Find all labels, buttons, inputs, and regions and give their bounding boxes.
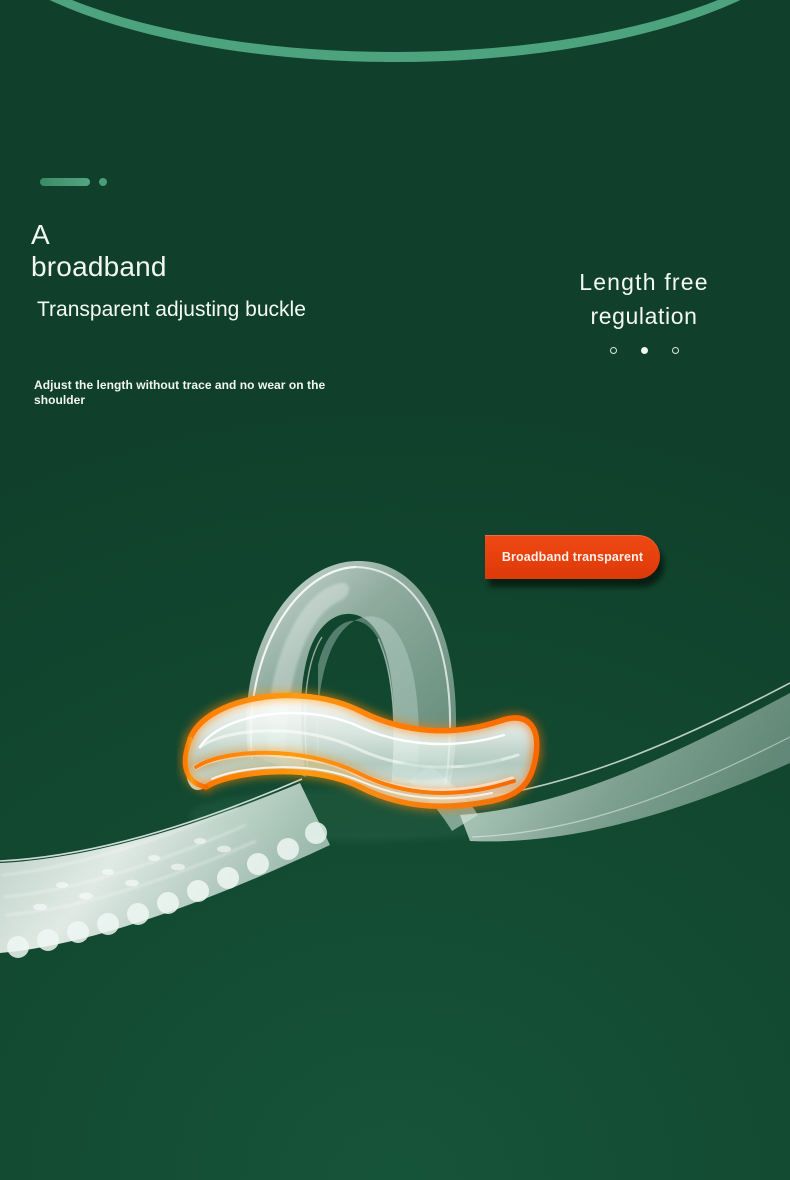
right-headline-line1: Length free [534,265,754,299]
right-text-block: Length free regulation [534,265,754,354]
product-illustration [0,515,790,1035]
right-headline-line2: regulation [534,299,754,333]
carousel-dot-1[interactable] [610,347,617,354]
strap-left [0,779,330,958]
buckle-highlight-bottom [206,755,536,806]
carousel-dots [534,347,754,354]
strap-loop [246,561,478,831]
adjusting-buckle [185,696,537,807]
buckle-highlight-top [190,696,537,755]
dot-marker [99,178,107,186]
buckle-highlight-middle [196,753,514,793]
carousel-dot-3[interactable] [672,347,679,354]
headline: A broadband [31,219,167,283]
lace-scallops [7,822,327,958]
strap-right [460,683,790,841]
top-curve-arc [0,0,790,62]
subheadline: Transparent adjusting buckle [37,297,307,322]
broadband-transparent-badge: Broadband transparent [485,535,660,579]
pill-marker [40,178,90,186]
poster-canvas: A broadband Transparent adjusting buckle… [0,0,790,1180]
carousel-dot-2-active[interactable] [641,347,648,354]
broadband-transparent-badge-wrap: Broadband transparent [485,535,660,579]
buckle-highlight-left [185,739,206,787]
description-text: Adjust the length without trace and no w… [34,378,334,408]
pill-dot-marker [40,178,107,186]
